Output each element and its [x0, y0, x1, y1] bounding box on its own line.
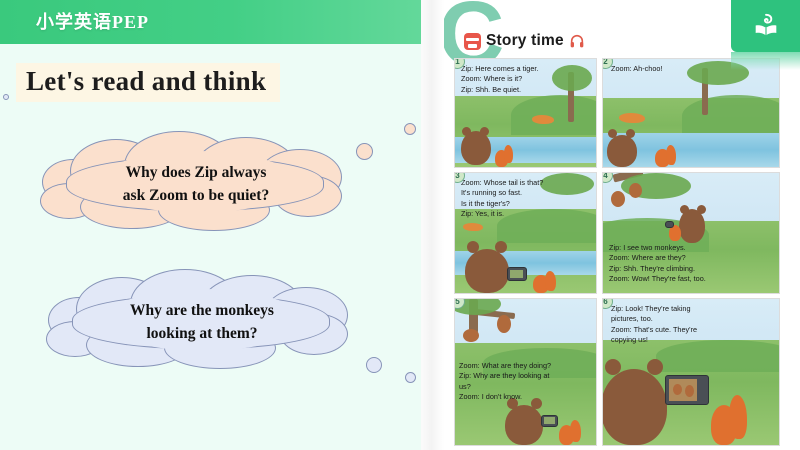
bubble-dot-edge	[3, 94, 9, 100]
comic-panel-6[interactable]: 6 Zip: Look! They're taking pictures, to…	[602, 298, 780, 446]
logo-shadow	[731, 52, 800, 70]
panel-6-dialog: Zip: Look! They're taking pictures, too.…	[611, 304, 697, 345]
bubble-dot-blue-large	[366, 357, 382, 373]
brand-label: 小学英语PEP	[36, 8, 149, 34]
page-title: Let's read and think	[26, 66, 266, 97]
slide-canvas: 小学英语PEP Let's read and think Why does Zi…	[0, 0, 800, 450]
page-title-band: Let's read and think	[16, 63, 280, 102]
thought-bubble-question-2[interactable]: Why are the monkeys looking at them?	[52, 275, 352, 370]
panel-1-dialog: Zip: Here comes a tiger. Zoom: Where is …	[461, 64, 538, 95]
open-book-logo-icon	[731, 0, 800, 52]
story-time-label: Story time	[486, 32, 564, 50]
left-content-panel: 小学英语PEP Let's read and think Why does Zi…	[0, 0, 421, 450]
comic-panel-4[interactable]: 4 Zip: I see two monkeys. Zoom: Where ar…	[602, 172, 780, 294]
panel-3-dialog: Zoom: Whose tail is that? It's running s…	[461, 178, 543, 219]
comic-panel-1[interactable]: 1 Zip: Here comes a tiger. Zoom: Where i…	[454, 58, 597, 168]
story-comic-grid: 1 Zip: Here comes a tiger. Zoom: Where i…	[454, 58, 790, 446]
panel-5-dialog: Zoom: What are they doing? Zip: Why are …	[459, 361, 551, 402]
comic-panel-5[interactable]: 5 Zoom: What are they doing? Zip: Why ar…	[454, 298, 597, 446]
book-icon	[464, 33, 481, 50]
bubble-dot-peach-large	[356, 143, 373, 160]
textbook-page-image: C Story time	[444, 0, 800, 450]
panel-2-dialog: Zoom: Ah-choo!	[611, 64, 663, 74]
story-time-heading: Story time	[464, 32, 585, 50]
bubble-dot-blue-small	[405, 372, 416, 383]
panel-divider	[421, 0, 444, 450]
question-2-text: Why are the monkeys looking at them?	[72, 300, 332, 345]
question-1-text: Why does Zip always ask Zoom to be quiet…	[66, 162, 326, 207]
comic-panel-2[interactable]: 2 Zoom: Ah-choo!	[602, 58, 780, 168]
headphone-icon	[569, 33, 585, 49]
bubble-dot-peach-small	[404, 123, 416, 135]
panel-4-dialog: Zip: I see two monkeys. Zoom: Where are …	[609, 243, 706, 284]
comic-panel-3[interactable]: 3 Zoom: Whose tail is that? It's running…	[454, 172, 597, 294]
open-book-logo-svg	[751, 11, 781, 41]
thought-bubble-question-1[interactable]: Why does Zip always ask Zoom to be quiet…	[46, 137, 346, 232]
